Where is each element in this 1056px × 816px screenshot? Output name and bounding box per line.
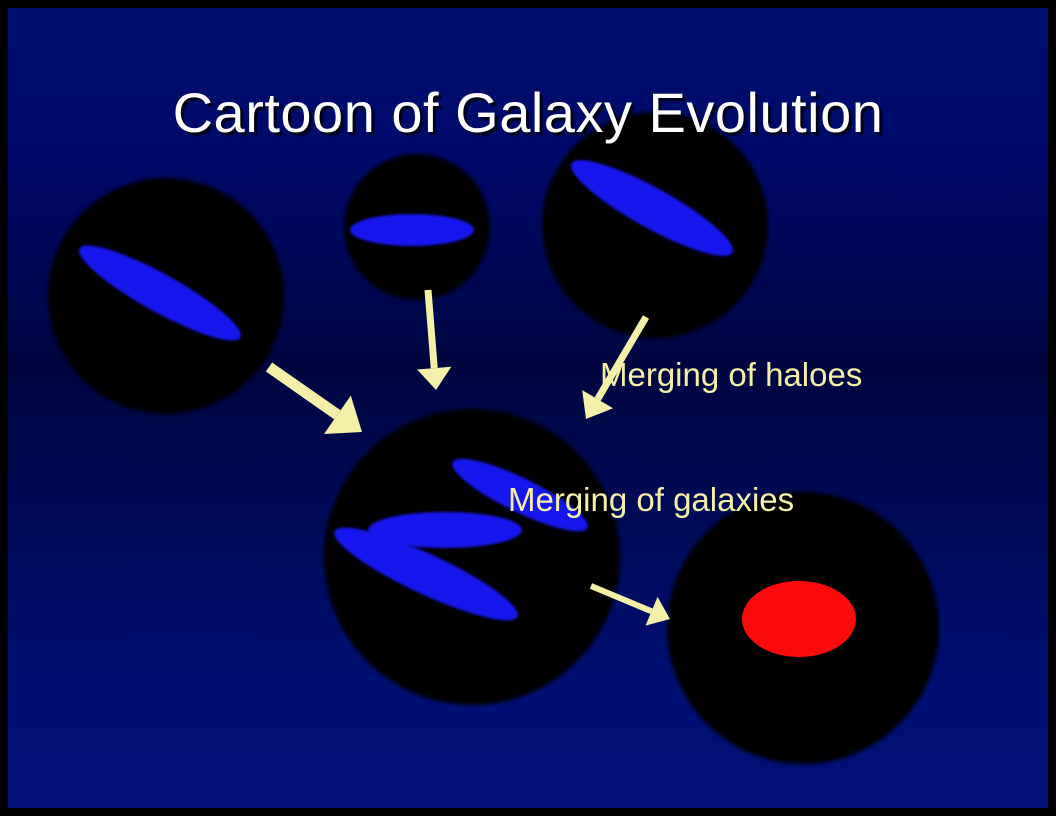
arrow-top-middle-to-centre: [417, 290, 451, 390]
arrow-shaft: [266, 362, 341, 419]
arrow-head: [417, 367, 451, 390]
halo-top-right: [542, 112, 768, 338]
halo-merged-centre: [324, 409, 620, 705]
label-merging-galaxies: Merging of galaxies: [508, 483, 794, 516]
disk-galaxy: [350, 214, 474, 246]
arrow-top-left-to-centre: [266, 362, 362, 434]
elliptical-galaxy: [742, 581, 856, 657]
label-merging-haloes: Merging of haloes: [600, 358, 862, 391]
slide-canvas: Cartoon of Galaxy Evolution Merging of h…: [8, 8, 1048, 808]
slide-frame: Cartoon of Galaxy Evolution Merging of h…: [0, 0, 1056, 816]
galaxy-evolution-diagram: [8, 8, 1048, 808]
halo-top-middle: [344, 154, 490, 300]
halo-top-left: [48, 178, 284, 414]
halo-elliptical-result: [667, 492, 939, 764]
haloes-layer: [48, 112, 939, 764]
arrow-shaft: [425, 290, 438, 369]
